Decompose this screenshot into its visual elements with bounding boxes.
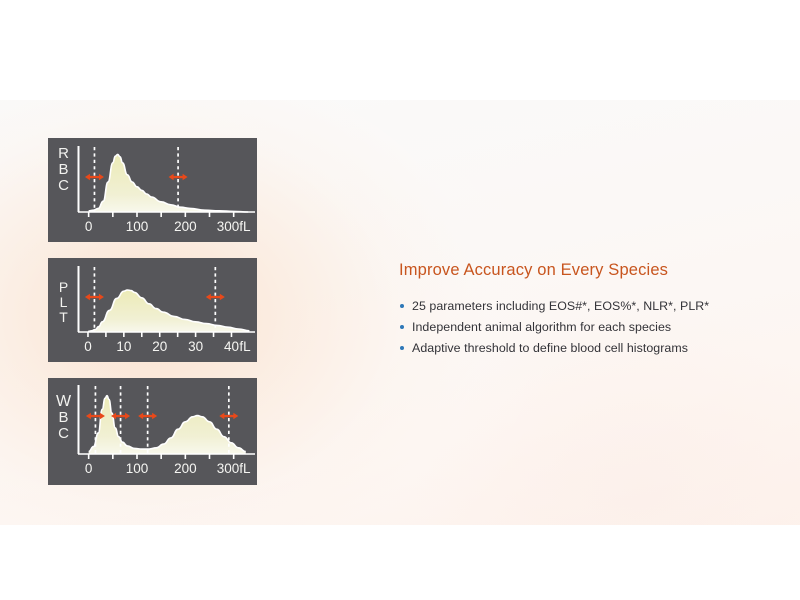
- svg-text:30: 30: [188, 339, 203, 354]
- list-item-label: 25 parameters including EOS#*, EOS%*, NL…: [412, 299, 709, 313]
- content-band: 0100200300fL R B C 010203040fL P L T 010…: [0, 100, 800, 525]
- histogram-panel-rbc[interactable]: 0100200300fL R B C: [48, 138, 257, 242]
- panel-label-letter: R: [55, 146, 72, 162]
- bullet-dot-icon: [400, 346, 404, 350]
- panel-label-plt: P L T: [55, 280, 72, 325]
- panel-label-rbc: R B C: [55, 146, 72, 194]
- page-title: Improve Accuracy on Every Species: [399, 260, 774, 280]
- list-item: Adaptive threshold to define blood cell …: [399, 338, 774, 359]
- histogram-column: 0100200300fL R B C 010203040fL P L T 010…: [48, 138, 257, 485]
- svg-text:20: 20: [152, 339, 167, 354]
- svg-text:200: 200: [174, 461, 197, 476]
- svg-text:0: 0: [85, 461, 93, 476]
- slide-root: 0100200300fL R B C 010203040fL P L T 010…: [0, 0, 800, 600]
- panel-label-letter: B: [55, 410, 72, 426]
- svg-text:10: 10: [116, 339, 131, 354]
- svg-text:100: 100: [126, 461, 149, 476]
- rbc-chart-svg: 0100200300fL: [48, 138, 257, 242]
- histogram-panel-plt[interactable]: 010203040fL P L T: [48, 258, 257, 362]
- svg-text:100: 100: [126, 219, 149, 234]
- svg-text:40: 40: [224, 339, 239, 354]
- list-item: Independent animal algorithm for each sp…: [399, 317, 774, 338]
- panel-label-letter: T: [55, 310, 72, 325]
- bullet-dot-icon: [400, 304, 404, 308]
- panel-label-letter: C: [55, 178, 72, 194]
- feature-text-block: Improve Accuracy on Every Species 25 par…: [399, 260, 774, 359]
- svg-text:0: 0: [85, 219, 93, 234]
- panel-label-letter: C: [55, 426, 72, 442]
- panel-label-letter: L: [55, 295, 72, 310]
- list-item-label: Independent animal algorithm for each sp…: [412, 320, 671, 334]
- svg-text:300fL: 300fL: [217, 461, 251, 476]
- panel-label-letter: W: [55, 394, 72, 410]
- svg-text:fL: fL: [239, 339, 251, 354]
- feature-bullet-list: 25 parameters including EOS#*, EOS%*, NL…: [399, 296, 774, 359]
- panel-label-letter: P: [55, 280, 72, 295]
- panel-label-wbc: W B C: [55, 394, 72, 442]
- svg-text:0: 0: [84, 339, 92, 354]
- histogram-panel-wbc[interactable]: 0100200300fL W B C: [48, 378, 257, 485]
- list-item-label: Adaptive threshold to define blood cell …: [412, 341, 688, 355]
- wbc-chart-svg: 0100200300fL: [48, 378, 257, 485]
- svg-text:300fL: 300fL: [217, 219, 251, 234]
- svg-text:200: 200: [174, 219, 197, 234]
- list-item: 25 parameters including EOS#*, EOS%*, NL…: [399, 296, 774, 317]
- panel-label-letter: B: [55, 162, 72, 178]
- plt-chart-svg: 010203040fL: [48, 258, 257, 362]
- bullet-dot-icon: [400, 325, 404, 329]
